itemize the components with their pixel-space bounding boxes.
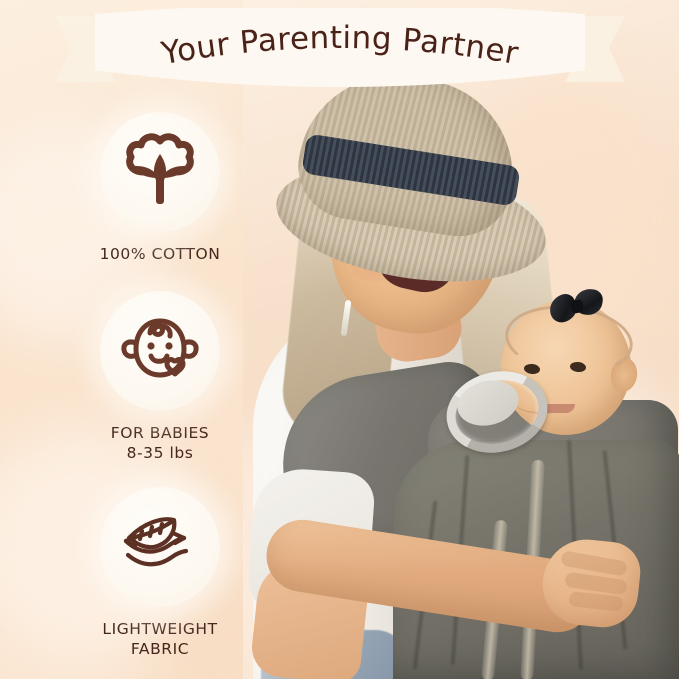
banner-title-wrap: Your Parenting Partner <box>55 8 625 100</box>
feature-cotton: 100% COTTON <box>60 112 260 265</box>
feature-lightweight: LIGHTWEIGHT FABRIC <box>60 487 260 660</box>
feature-babies: FOR BABIES 8-35 lbs <box>60 291 260 464</box>
feature-list: 100% COTTON <box>60 112 260 679</box>
lifestyle-photo <box>243 0 679 679</box>
feature-cotton-badge <box>100 112 220 232</box>
cotton-boll-icon <box>114 126 206 218</box>
feature-lightweight-badge <box>100 487 220 607</box>
feature-lightweight-label: LIGHTWEIGHT FABRIC <box>60 620 260 660</box>
baby-face-icon <box>114 305 206 397</box>
product-feature-image: Your Parenting Partner <box>0 0 679 679</box>
feather-fabric-icon <box>114 501 206 593</box>
feature-babies-badge <box>100 291 220 411</box>
feature-babies-label: FOR BABIES 8-35 lbs <box>60 424 260 464</box>
feature-cotton-label: 100% COTTON <box>60 245 260 265</box>
page-title: Your Parenting Partner <box>158 20 522 72</box>
title-banner: Your Parenting Partner <box>55 8 625 100</box>
